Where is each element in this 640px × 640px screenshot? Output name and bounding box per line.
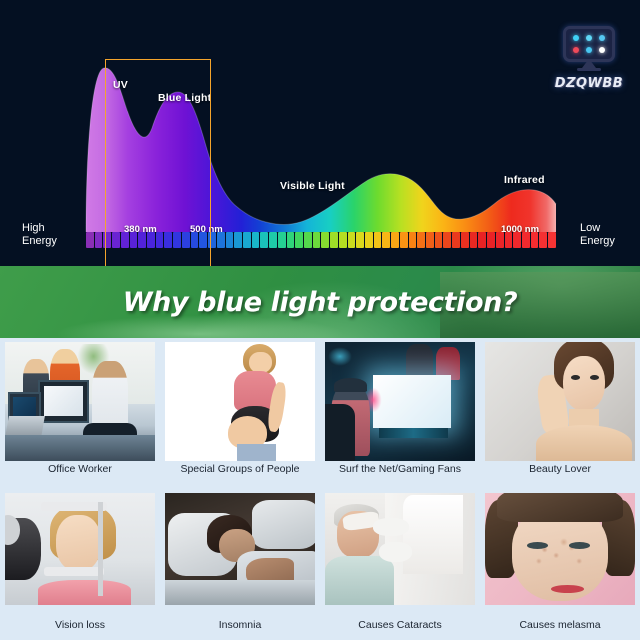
caption-gaming-fans: Surf the Net/Gaming Fans [320, 463, 480, 475]
axis-label-low-energy: Low Energy [580, 222, 615, 248]
monitor-stand-icon [582, 61, 596, 68]
product-infographic: UV Blue Light Visible Light Infrared 380… [0, 0, 640, 640]
caption-vision-loss: Vision loss [0, 619, 160, 631]
thumbnail-cataracts [325, 493, 475, 605]
grid-cell-beauty-lover[interactable]: Beauty Lover [480, 338, 640, 489]
low-energy-line1: Low [580, 222, 615, 235]
caption-special-groups: Special Groups of People [160, 463, 320, 475]
grid-cell-office-worker[interactable]: Office Worker [0, 338, 160, 489]
high-energy-line2: Energy [22, 235, 57, 248]
spectrum-chart: UV Blue Light Visible Light Infrared 380… [0, 0, 640, 266]
page-title: Why blue light protection? [0, 266, 640, 338]
caption-office-worker: Office Worker [0, 463, 160, 475]
thumbnail-special-groups [165, 342, 315, 461]
thumbnail-melasma [485, 493, 635, 605]
chart-label-infrared: Infrared [504, 174, 545, 186]
brand-logo: DZQWBB [552, 26, 626, 98]
caption-cataracts: Causes Cataracts [320, 619, 480, 631]
thumbnail-vision-loss [5, 493, 155, 605]
grid-cell-gaming-fans[interactable]: Surf the Net/Gaming Fans [320, 338, 480, 489]
grid-cell-vision-loss[interactable]: Vision loss [0, 489, 160, 640]
use-case-grid: Office Worker Special Groups of People [0, 338, 640, 640]
grid-cell-insomnia[interactable]: Insomnia [160, 489, 320, 640]
monitor-base-icon [577, 68, 601, 71]
caption-insomnia: Insomnia [160, 619, 320, 631]
blue-light-highlight-box [105, 59, 211, 266]
light-spectrum-chart-panel: UV Blue Light Visible Light Infrared 380… [0, 0, 640, 266]
caption-beauty-lover: Beauty Lover [480, 463, 640, 475]
caption-melasma: Causes melasma [480, 619, 640, 631]
axis-label-high-energy: High Energy [22, 222, 57, 248]
low-energy-line2: Energy [580, 235, 615, 248]
monitor-icon [563, 26, 615, 62]
thumbnail-insomnia [165, 493, 315, 605]
grid-cell-melasma[interactable]: Causes melasma [480, 489, 640, 640]
headline-banner: Why blue light protection? [0, 266, 640, 338]
thumbnail-gaming-fans [325, 342, 475, 461]
thumbnail-office-worker [5, 342, 155, 461]
spectrum-curve-graphic [0, 0, 640, 266]
chart-label-visible-light: Visible Light [280, 180, 345, 192]
brand-name: DZQWBB [555, 76, 623, 91]
high-energy-line1: High [22, 222, 57, 235]
grid-cell-special-groups[interactable]: Special Groups of People [160, 338, 320, 489]
grid-cell-cataracts[interactable]: Causes Cataracts [320, 489, 480, 640]
thumbnail-beauty-lover [485, 342, 635, 461]
